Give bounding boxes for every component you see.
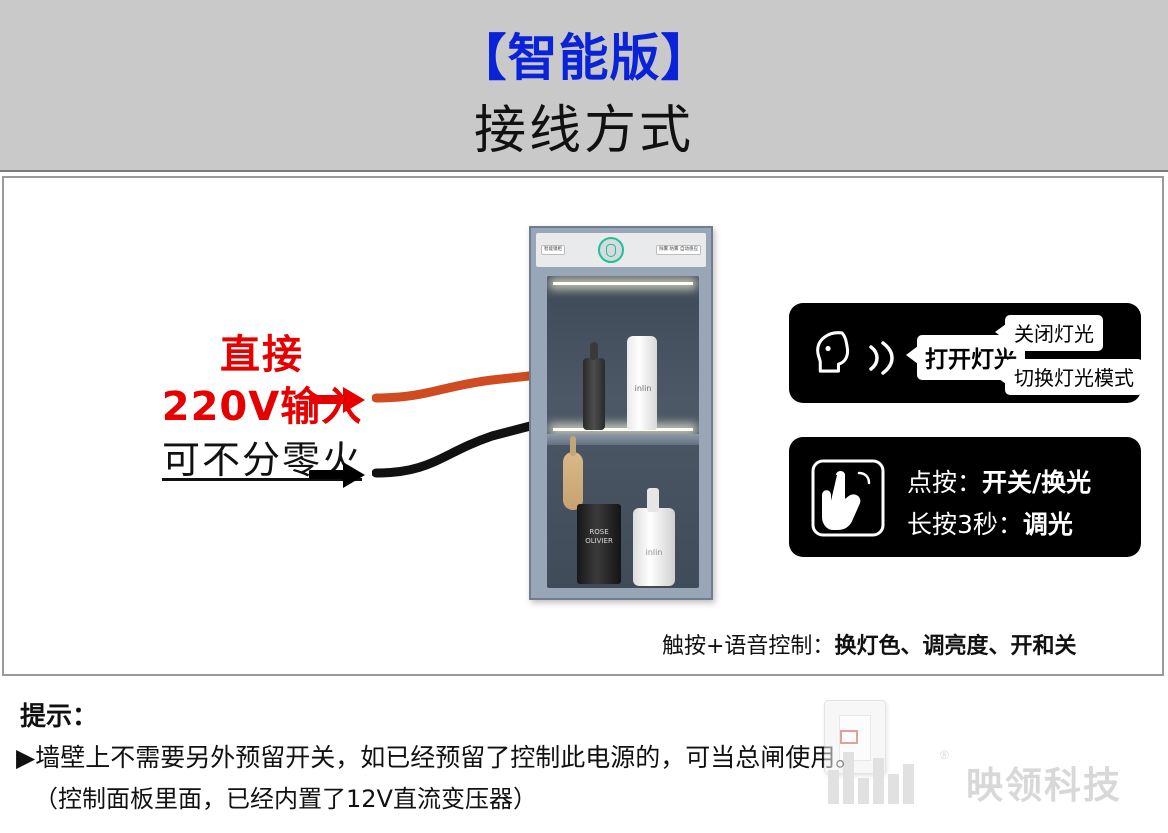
sound-wave-icon [865,341,905,375]
watermark: ® 映领科技 [818,700,1158,820]
bottle-brand-2: ROSE OLIVIER [579,528,619,546]
voice-head-icon [809,325,861,379]
diagram-panel: 直接 220V输入 可不分零火 智能镜柜 除雾 防雾 自动感应 [2,176,1164,676]
brush-strap [570,436,576,456]
switch-mark-icon [840,730,858,744]
bottle-white-tall [627,336,657,430]
note-line-2: （控制面板里面，已经内置了12V直流变压器） [34,779,537,814]
voice-output-2: 切换灯光模式 [1005,359,1143,395]
panel-caption: 触按+语音控制：换灯色、调亮度、开和关 [662,628,1076,660]
cabinet-right-label: 除雾 防雾 自动感应 [656,245,701,255]
mirror-cabinet-illustration: 智能镜柜 除雾 防雾 自动感应 inlin ROSE OLIVIER [529,226,713,600]
watermark-brand: 映领科技 [966,755,1122,809]
touch-line-2-prefix: 长按3秒： [907,510,1023,539]
panel-caption-prefix: 触按+语音控制： [662,634,834,659]
registered-mark: ® [940,748,949,762]
bottle-brand-3: inlin [635,548,673,557]
note-line-1: ▶墙壁上不需要另外预留开关，如已经预留了控制此电源的，可当总闸使用。 [16,738,860,774]
voice-output-1: 关闭灯光 [1005,315,1103,351]
led-strip-top [553,282,693,285]
bottle-brand-1: inlin [630,384,656,393]
touch-sensor-icon[interactable] [598,237,624,263]
poster-root: 【智能版】 接线方式 直接 220V输入 可不分零火 智能镜柜 [0,0,1168,833]
cabinet-top-bar: 智能镜柜 除雾 防雾 自动感应 [536,233,706,267]
touch-line-2-value: 调光 [1023,510,1073,539]
touch-control-box: 点按：开关/换光 长按3秒：调光 [789,437,1141,557]
header: 【智能版】 接线方式 [0,0,1168,172]
hanging-brush [563,452,583,510]
panel-caption-value: 换灯色、调亮度、开和关 [834,634,1076,659]
led-strip-middle [553,428,693,431]
voice-control-box: 打开灯光 关闭灯光 切换灯光模式 [789,303,1141,403]
input-label-line1: 直接 [122,330,402,380]
pump-head [647,488,659,512]
header-badge-title: 【智能版】 [0,18,1168,90]
bottle-white-pump [633,508,675,586]
note-title: 提示： [20,696,98,733]
wire-graphic [372,358,542,518]
page-title: 接线方式 [0,88,1168,163]
touch-line-1: 点按：开关/换光 [907,463,1091,499]
touch-line-1-prefix: 点按： [907,468,982,497]
bottle-dark-dropper [583,358,605,430]
touch-line-1-value: 开关/换光 [982,468,1091,497]
cabinet-left-label: 智能镜柜 [541,245,565,255]
bottle-dark-cap [590,342,598,360]
watermark-logo-bars [828,752,914,804]
cabinet-interior: inlin ROSE OLIVIER inlin [547,276,699,588]
touch-line-2: 长按3秒：调光 [907,505,1073,541]
tap-hand-icon [811,459,885,537]
